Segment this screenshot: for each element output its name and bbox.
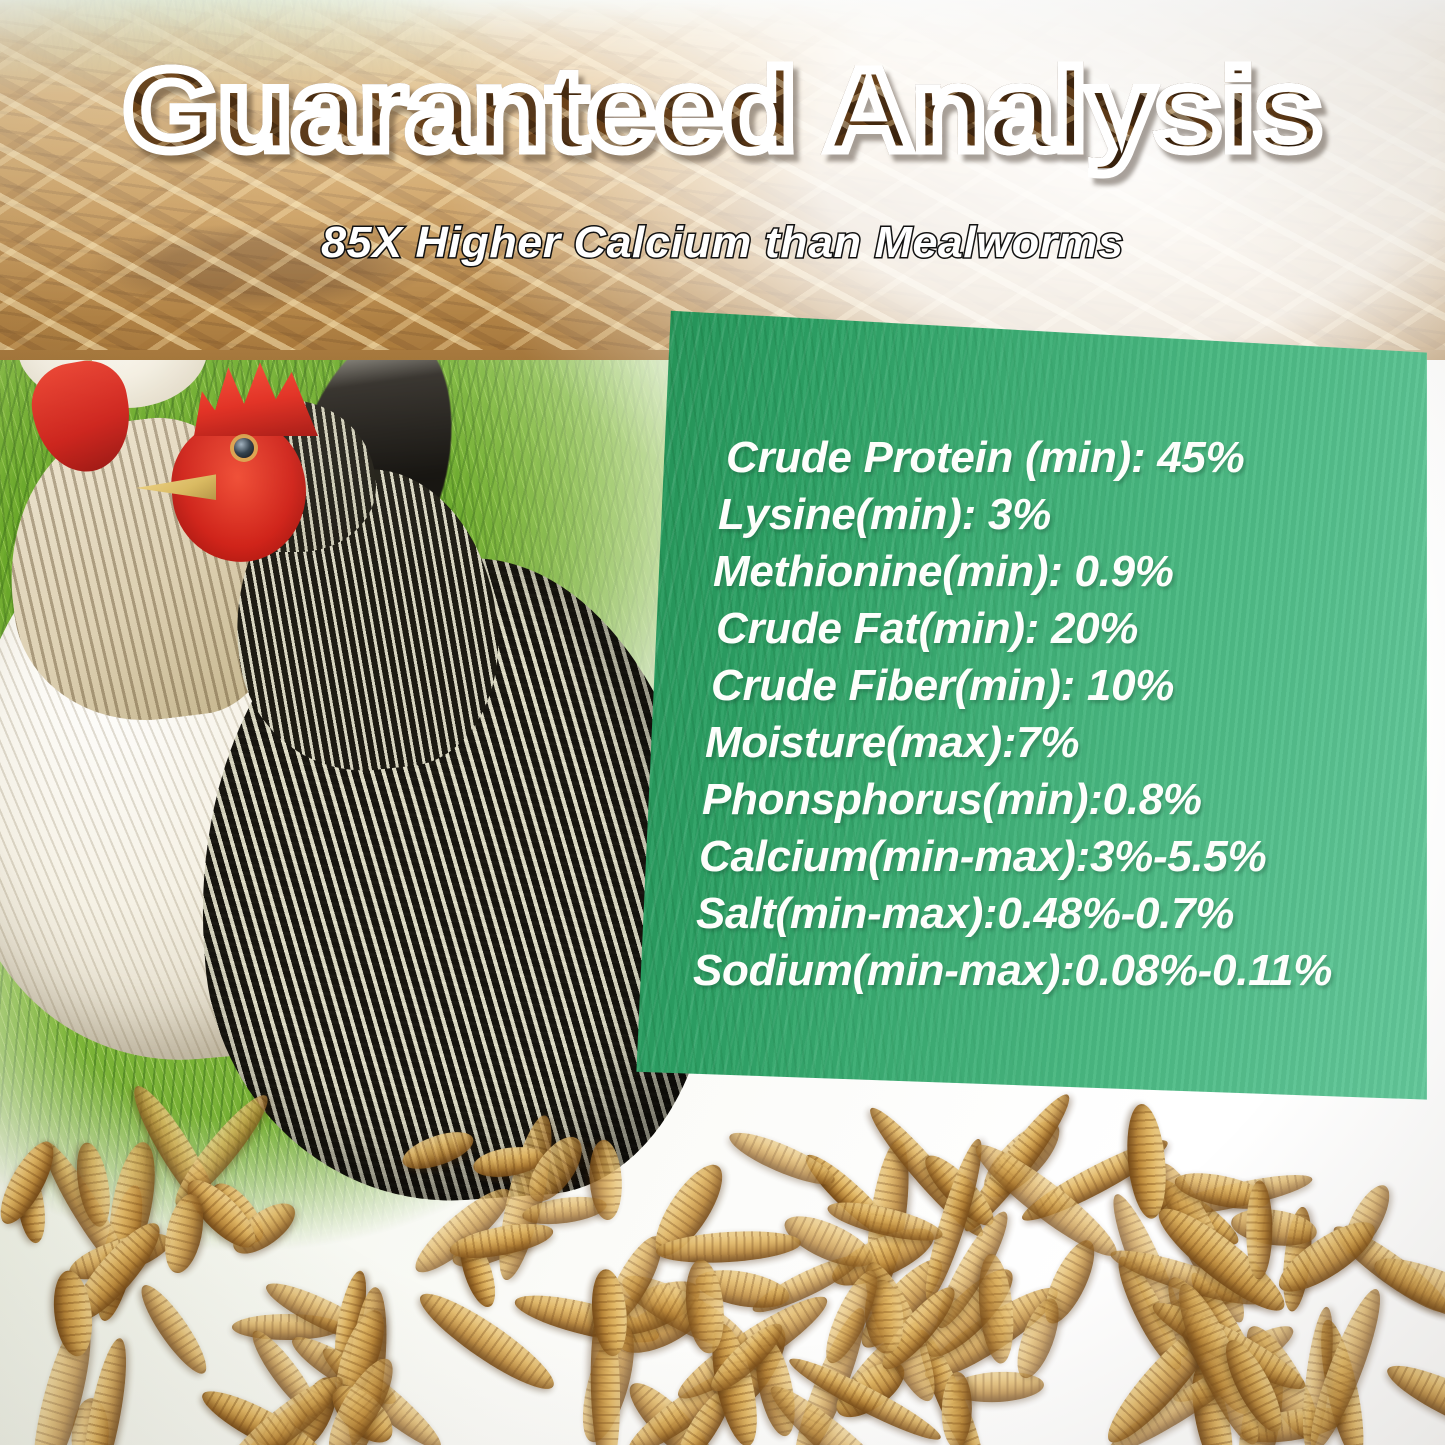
subtitle-container: 85X Higher Calcium than Mealworms [0, 218, 1445, 268]
guaranteed-analysis-panel [620, 296, 1440, 1116]
panel-texture-overlay [620, 296, 1440, 1116]
page-subtitle: 85X Higher Calcium than Mealworms [321, 218, 1123, 268]
page-title: Guaranteed Analysis [123, 52, 1322, 168]
title-container: Guaranteed Analysis [0, 52, 1445, 168]
product-infographic: Guaranteed Analysis 85X Higher Calcium t… [0, 0, 1445, 1445]
